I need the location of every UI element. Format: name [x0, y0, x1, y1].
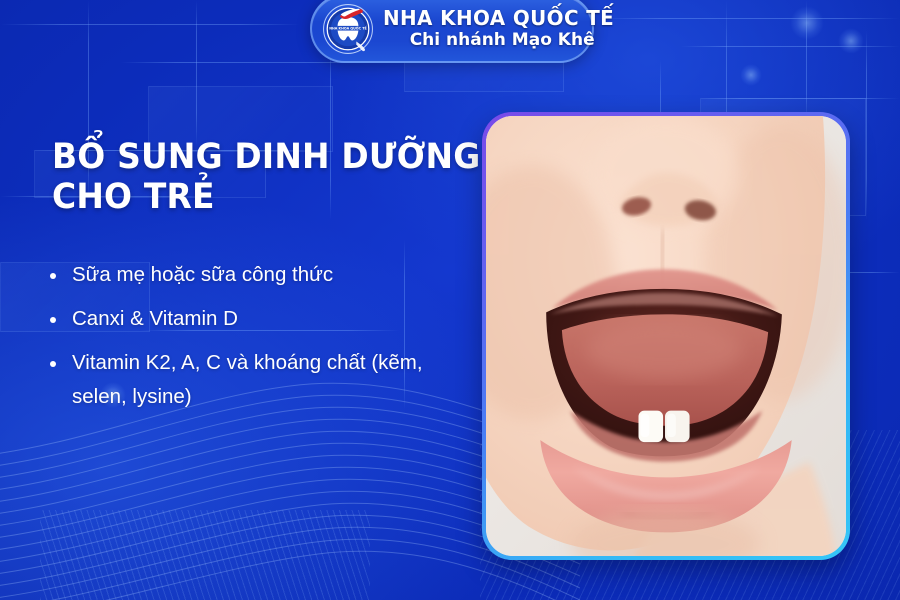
poster-canvas: NHA KHOA QUỐC TẾ NHA KHOA QUỐC TẾ Chi nh…	[0, 0, 900, 600]
nutrition-bullet-list: Sữa mẹ hoặc sữa công thức Canxi & Vitami…	[44, 258, 444, 424]
list-item: Sữa mẹ hoặc sữa công thức	[44, 258, 444, 291]
list-item-label: Canxi & Vitamin D	[72, 307, 238, 330]
tooth-emblem-icon: NHA KHOA QUỐC TẾ	[322, 3, 374, 55]
badge-line-1: NHA KHOA QUỐC TẾ	[383, 8, 614, 29]
list-item-label: Vitamin K2, A, C và khoáng chất (kẽm, se…	[72, 351, 423, 407]
brand-badge[interactable]: NHA KHOA QUỐC TẾ NHA KHOA QUỐC TẾ Chi nh…	[310, 0, 594, 63]
bullet-dot-icon	[50, 317, 56, 323]
badge-line-2: Chi nhánh Mạo Khê	[383, 32, 621, 49]
page-title: BỔ SUNG DINH DƯỠNG CHO TRẺ	[52, 138, 428, 217]
headline-line-2: CHO TRẺ	[52, 178, 428, 218]
bullet-dot-icon	[50, 273, 56, 279]
list-item: Canxi & Vitamin D	[44, 302, 444, 335]
bullet-dot-icon	[50, 361, 56, 367]
photo-card	[482, 112, 850, 560]
list-item: Vitamin K2, A, C và khoáng chất (kẽm, se…	[44, 346, 444, 412]
baby-open-mouth-photo	[486, 116, 846, 556]
headline-line-1: BỔ SUNG DINH DƯỠNG	[52, 138, 428, 178]
list-item-label: Sữa mẹ hoặc sữa công thức	[72, 263, 333, 286]
